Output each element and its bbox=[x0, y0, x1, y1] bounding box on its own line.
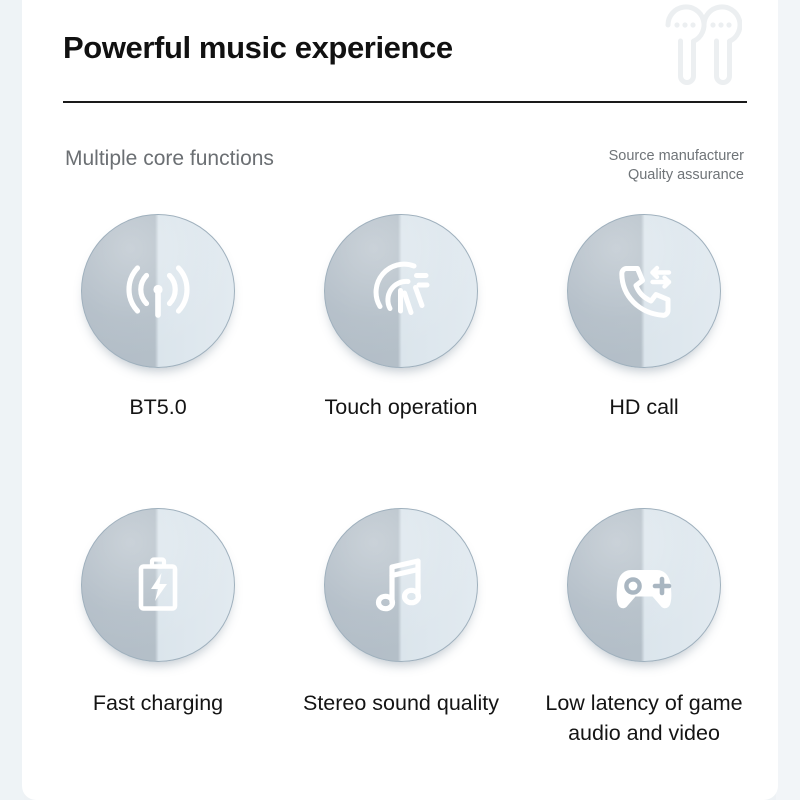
tagline-line-1: Source manufacturer bbox=[609, 147, 744, 166]
feature-icon-disc bbox=[567, 508, 721, 662]
battery-charging-icon bbox=[81, 508, 235, 662]
feature-item-low-latency: Low latency of game audio and video bbox=[532, 508, 756, 748]
feature-item-touch: Touch operation bbox=[289, 214, 513, 422]
page-left-edge bbox=[0, 0, 24, 800]
header-divider bbox=[63, 101, 747, 103]
feature-label: Fast charging bbox=[93, 688, 223, 718]
feature-row-2: Fast charging bbox=[22, 508, 778, 748]
tagline: Source manufacturer Quality assurance bbox=[609, 147, 744, 185]
feature-icon-disc bbox=[324, 508, 478, 662]
music-note-icon bbox=[324, 508, 478, 662]
feature-label: Stereo sound quality bbox=[303, 688, 499, 718]
earbuds-icon bbox=[656, 2, 742, 86]
bluetooth-signal-icon bbox=[81, 214, 235, 368]
feature-icon-disc bbox=[81, 214, 235, 368]
feature-item-fast-charging: Fast charging bbox=[46, 508, 270, 748]
feature-row-1: BT5.0 bbox=[22, 214, 778, 422]
feature-label: BT5.0 bbox=[129, 392, 186, 422]
section-subtitle: Multiple core functions bbox=[65, 147, 274, 171]
product-feature-infographic: Powerful music experience bbox=[0, 0, 800, 800]
feature-icon-disc bbox=[81, 508, 235, 662]
tagline-line-2: Quality assurance bbox=[609, 166, 744, 185]
feature-label: Low latency of game audio and video bbox=[545, 688, 742, 748]
feature-label: Touch operation bbox=[325, 392, 478, 422]
feature-icon-disc bbox=[567, 214, 721, 368]
feature-label: HD call bbox=[609, 392, 678, 422]
feature-icon-disc bbox=[324, 214, 478, 368]
page-right-edge bbox=[776, 0, 800, 800]
fingerprint-icon bbox=[324, 214, 478, 368]
feature-item-bt5: BT5.0 bbox=[46, 214, 270, 422]
feature-item-stereo: Stereo sound quality bbox=[289, 508, 513, 748]
feature-grid: BT5.0 bbox=[22, 214, 778, 748]
content-card: Powerful music experience bbox=[22, 0, 778, 800]
page-title: Powerful music experience bbox=[63, 30, 453, 66]
gamepad-icon bbox=[567, 508, 721, 662]
phone-call-icon bbox=[567, 214, 721, 368]
feature-item-hd-call: HD call bbox=[532, 214, 756, 422]
